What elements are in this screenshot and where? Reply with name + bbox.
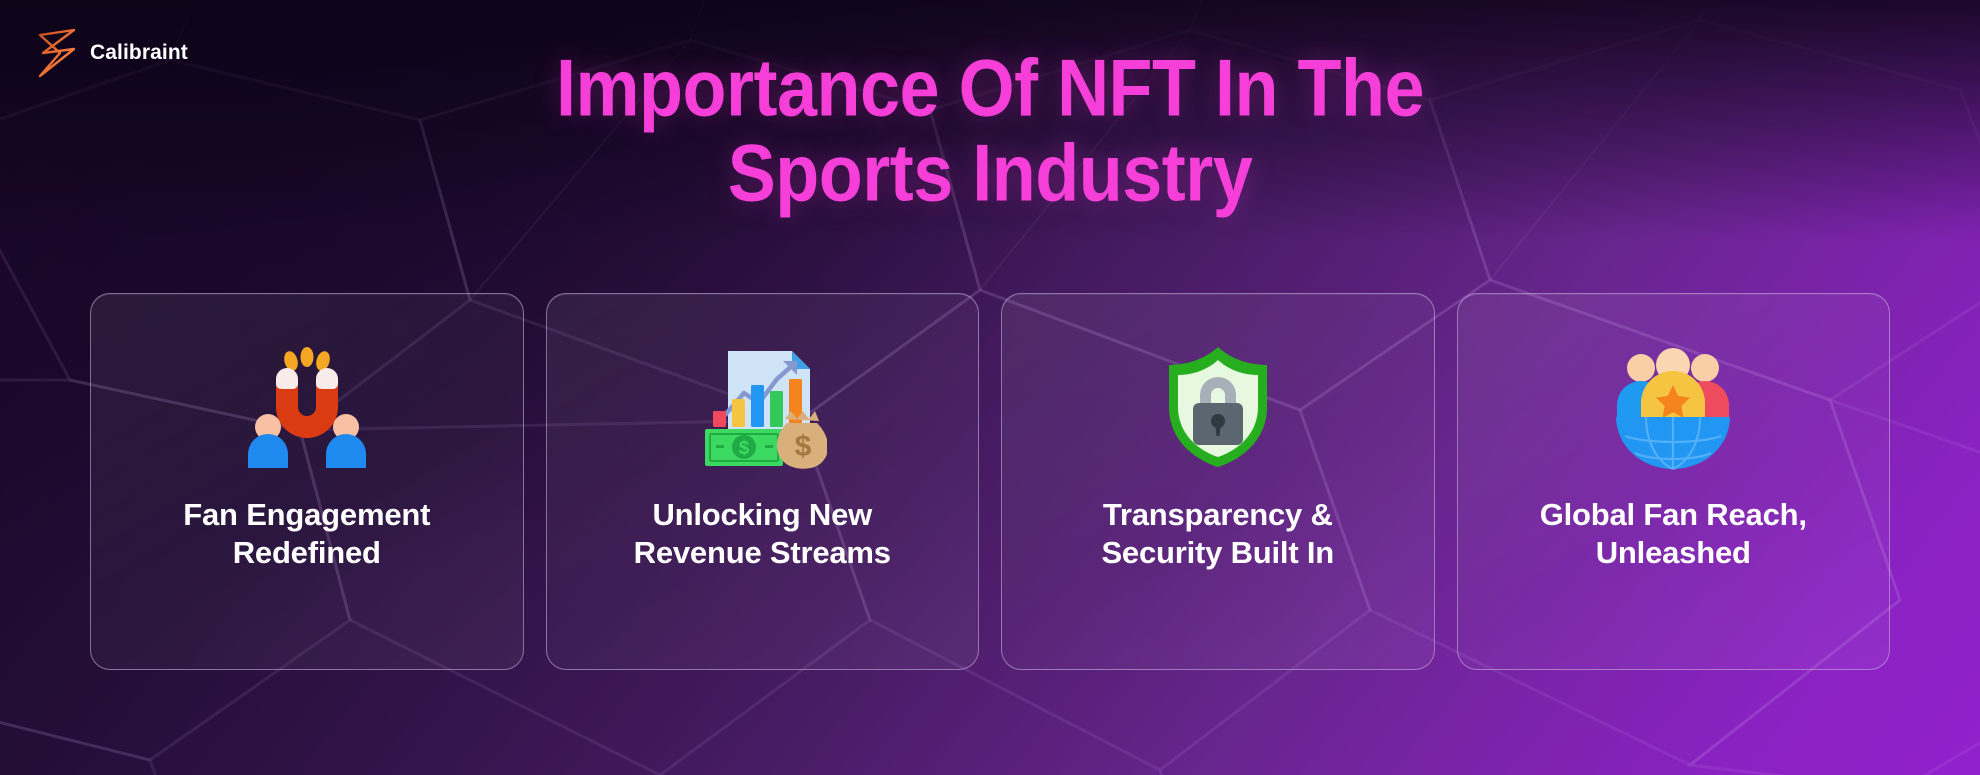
card-label: Transparency & Security Built In <box>1085 496 1350 573</box>
page-title-line-2: Sports Industry <box>0 131 1980 216</box>
brand-logo[interactable]: Calibraint <box>34 26 188 80</box>
card-transparency-security[interactable]: Transparency & Security Built In <box>1001 293 1435 670</box>
card-fan-engagement[interactable]: Fan Engagement Redefined <box>90 293 524 670</box>
calibraint-z-logo-icon <box>34 26 80 80</box>
benefit-cards-row: Fan Engagement Redefined $ <box>90 293 1890 670</box>
revenue-growth-chart-money-icon: $ $ <box>694 338 830 474</box>
page-title-line-1: Importance Of NFT In The <box>0 46 1980 131</box>
card-label: Unlocking New Revenue Streams <box>618 496 907 573</box>
svg-text:$: $ <box>739 438 750 459</box>
card-label: Fan Engagement Redefined <box>167 496 446 573</box>
page-title: Importance Of NFT In The Sports Industry <box>0 46 1980 217</box>
shield-padlock-security-icon <box>1150 338 1286 474</box>
globe-people-global-reach-icon <box>1605 338 1741 474</box>
magnet-fan-engagement-icon <box>239 338 375 474</box>
card-revenue-streams[interactable]: $ $ Unlocking New Revenue Streams <box>546 293 980 670</box>
brand-name: Calibraint <box>90 41 188 65</box>
svg-text:$: $ <box>795 430 812 463</box>
card-global-fan-reach[interactable]: Global Fan Reach, Unleashed <box>1457 293 1891 670</box>
card-label: Global Fan Reach, Unleashed <box>1524 496 1823 573</box>
